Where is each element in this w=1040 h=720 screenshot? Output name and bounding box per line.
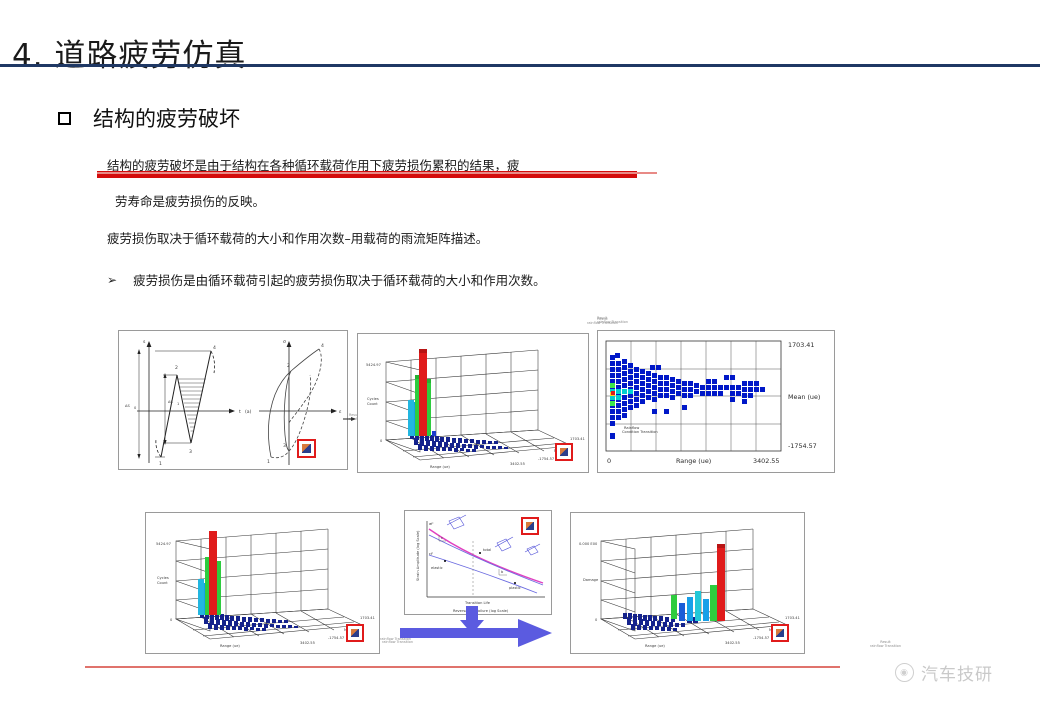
svg-text:1703.41: 1703.41 [360,616,375,620]
svg-text:Mean (ue): Mean (ue) [788,393,820,401]
redbox-marker-strainlife [521,517,539,535]
bottom-divider [85,666,840,668]
svg-text:Cycles: Cycles [367,397,379,401]
arrow-bullet-row: ➢ 疲劳损伤是由循环载荷引起的疲劳损伤取决于循环载荷的大小和作用次数。 [107,270,546,289]
redbox-marker-damage3d [771,624,789,642]
svg-text:Range (ue): Range (ue) [676,457,711,465]
page-title: 4. 道路疲劳仿真 [12,30,246,75]
svg-text:σ: σ [283,340,286,345]
svg-text:0: 0 [607,457,611,465]
svg-text:-1754.57: -1754.57 [753,636,769,640]
svg-text:0.000 E00: 0.000 E00 [579,542,598,546]
svg-text:3402.55: 3402.55 [510,462,525,466]
big-right-arrow-icon [400,606,580,652]
svg-text:Transition Life: Transition Life [464,601,491,605]
svg-text:Count: Count [367,402,378,406]
svg-text:1: 1 [159,461,162,467]
paragraph-2: 劳寿命是疲劳损伤的反映。 [115,191,265,210]
svg-text:Range (ue): Range (ue) [430,465,450,469]
redbox-marker-hysteresis [297,439,316,458]
svg-text:ΔS: ΔS [125,404,130,408]
svg-text:1703.41: 1703.41 [785,616,800,620]
svg-text:3: 3 [283,443,286,449]
svg-text:-1754.57: -1754.57 [328,636,344,640]
figure-rainflow3d-bottom: 5424.97 Cycles Count 0 Range (ue) 3402.5… [145,512,380,654]
svg-text:c: c [441,536,443,540]
svg-text:-1754.57: -1754.57 [788,442,817,450]
svg-text:ε: ε [339,410,342,415]
svg-text:Condition Transition: Condition Transition [622,430,658,434]
svg-text:5424.97: 5424.97 [366,363,381,367]
watermark-label: 汽车技研 [921,660,993,685]
svg-text:εf': εf' [429,552,433,556]
arrow-bullet-icon: ➢ [107,274,117,286]
svg-text:3402.55: 3402.55 [753,457,779,465]
svg-text:1703.41: 1703.41 [570,437,585,441]
circle-logo-icon: ◉ [895,663,914,682]
svg-text:2: 2 [175,365,178,371]
svg-text:b: b [501,570,504,574]
svg-text:3: 3 [189,449,192,455]
section-heading: 结构的疲劳破坏 [58,103,240,133]
svg-text:total: total [483,548,491,552]
svg-text:Damage: Damage [583,578,599,582]
svg-text:4: 4 [321,343,324,349]
svg-text:σf': σf' [429,522,434,526]
title-underline [0,64,1040,67]
watermark: ◉ 汽车技研 [895,660,993,685]
svg-text:ΔS: ΔS [168,400,173,404]
svg-text:-1754.57: -1754.57 [538,457,554,461]
svg-text:0: 0 [134,406,137,410]
svg-text:Range (ue): Range (ue) [220,644,240,648]
svg-text:(a): (a) [245,409,252,415]
redbox-marker-rainflow3d-bottom [346,624,364,642]
svg-text:4: 4 [213,345,216,351]
svg-text:3402.55: 3402.55 [300,641,315,645]
pink-underline [97,172,657,174]
figure-damage3d: 0.000 E00 Damage 0 Range (ue) 3402.55 -1… [570,512,805,654]
heatmap-header: Resultrainflow Transition [597,316,628,325]
slide-root: 4. 道路疲劳仿真 结构的疲劳破坏 结构的疲劳破坏是由于结构在各种循环载荷作用下… [0,0,1040,720]
paragraph-3: 疲劳损伤取决于循环载荷的大小和作用次数–用载荷的雨流矩阵描述。 [107,228,488,247]
svg-text:0: 0 [380,439,383,443]
damage3d-footer: Resultrainflow Transition [870,640,901,649]
svg-text:1703.41: 1703.41 [788,341,814,349]
svg-text:plastic: plastic [509,586,521,590]
redbox-marker-rainflow3d-top [555,443,573,461]
small-right-arrow-icon [343,415,357,423]
arrow-bullet-label: 疲劳损伤是由循环载荷引起的疲劳损伤取决于循环载荷的大小和作用次数。 [133,270,546,289]
svg-text:0: 0 [595,618,598,622]
svg-text:2: 2 [287,363,290,369]
svg-text:Range (ue): Range (ue) [645,644,665,648]
svg-text:3402.55: 3402.55 [725,641,740,645]
svg-text:5424.97: 5424.97 [156,542,171,546]
square-bullet-icon [58,112,71,125]
svg-text:Count: Count [157,581,168,585]
svg-text:s: s [143,340,146,345]
svg-text:1: 1 [177,402,179,406]
section-heading-label: 结构的疲劳破坏 [93,103,240,133]
figure-heatmap: Rainflow Condition Transition 1703.41 Me… [597,330,835,473]
figure-strainlife: total elastic plastic σf' εf' c b Transi… [404,510,552,615]
figure-hysteresis: s t [118,330,348,470]
svg-text:elastic: elastic [431,566,443,570]
figure-rainflow3d-top: 5424.97 Cycles Count 0 Range (ue) 3402.5… [357,333,589,473]
svg-text:1: 1 [267,459,270,465]
svg-text:Strain Amplitude (log Scale): Strain Amplitude (log Scale) [416,530,420,581]
svg-text:Cycles: Cycles [157,576,169,580]
svg-text:t: t [239,409,241,415]
svg-text:0: 0 [170,618,173,622]
